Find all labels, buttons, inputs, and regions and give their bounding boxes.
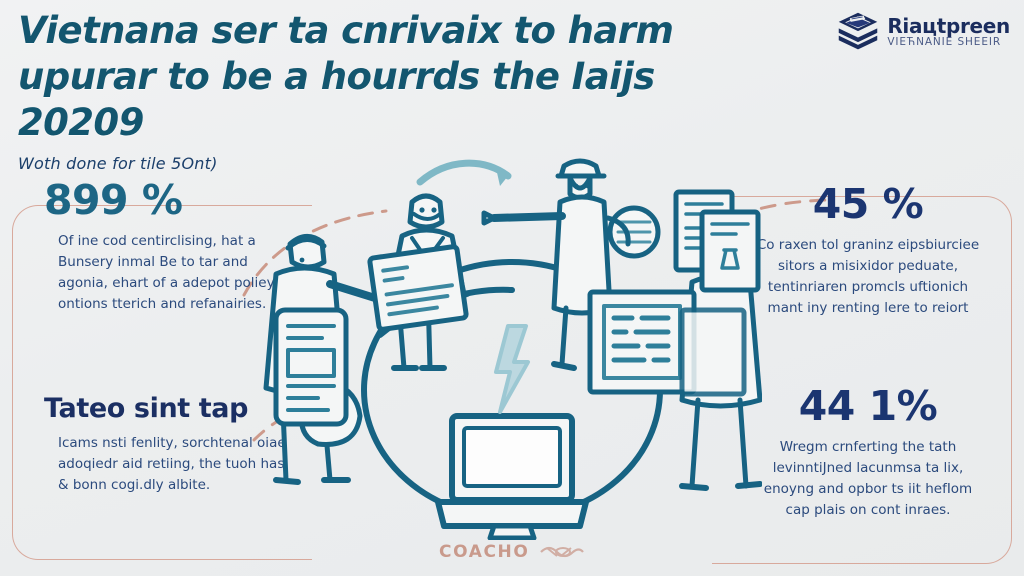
stat-value-899: 899 % bbox=[44, 176, 292, 224]
stat-heading-tateo: Tateo sint tap bbox=[44, 392, 292, 426]
logo-subtitle: VIEЋNANIE SHEEIR bbox=[887, 37, 1010, 48]
logo-name: Riaцtpreen bbox=[887, 16, 1010, 37]
stat-panel-right-top: 45 % Co raxen tol graninz eipsbiurciee s… bbox=[754, 180, 982, 319]
stat-value-44: 44 1% bbox=[754, 382, 982, 430]
stacked-layers-book-icon bbox=[836, 10, 880, 54]
infographic-canvas: Vietnana ser ta cnrivaix to harm upurar … bbox=[0, 0, 1024, 576]
ornament-flourish-icon bbox=[539, 543, 585, 561]
stat-value-45: 45 % bbox=[754, 180, 982, 228]
stat-description-left-bottom: Icams nsti fenlity, sorchtenal oiae adoq… bbox=[44, 433, 292, 496]
caption-text: COACHO bbox=[439, 542, 529, 562]
page-title: Vietnana ser ta cnrivaix to harm upurar … bbox=[18, 8, 718, 146]
stat-description-left-top: Of ine cod centirclising, hat a Bunsery … bbox=[44, 231, 292, 315]
stat-panel-left-top: 899 % Of ine cod centirclising, hat a Bu… bbox=[44, 176, 292, 315]
stat-description-right-top: Co raxen tol graninz eipsbiurciee sitors… bbox=[754, 235, 982, 319]
stat-panel-right-bottom: 44 1% Wregm crnferting the tath levinnti… bbox=[754, 382, 982, 521]
people-collaboration-network-line-art bbox=[262, 140, 762, 540]
brand-logo: Riaцtpreen VIEЋNANIE SHEEIR bbox=[836, 10, 1010, 54]
logo-text-block: Riaцtpreen VIEЋNANIE SHEEIR bbox=[887, 16, 1010, 48]
stat-panel-left-bottom: Tateo sint tap Icams nsti fenlity, sorch… bbox=[44, 392, 292, 496]
bottom-caption: COACHO bbox=[0, 542, 1024, 562]
stat-description-right-bottom: Wregm crnferting the tath levinntiJned l… bbox=[754, 437, 982, 521]
